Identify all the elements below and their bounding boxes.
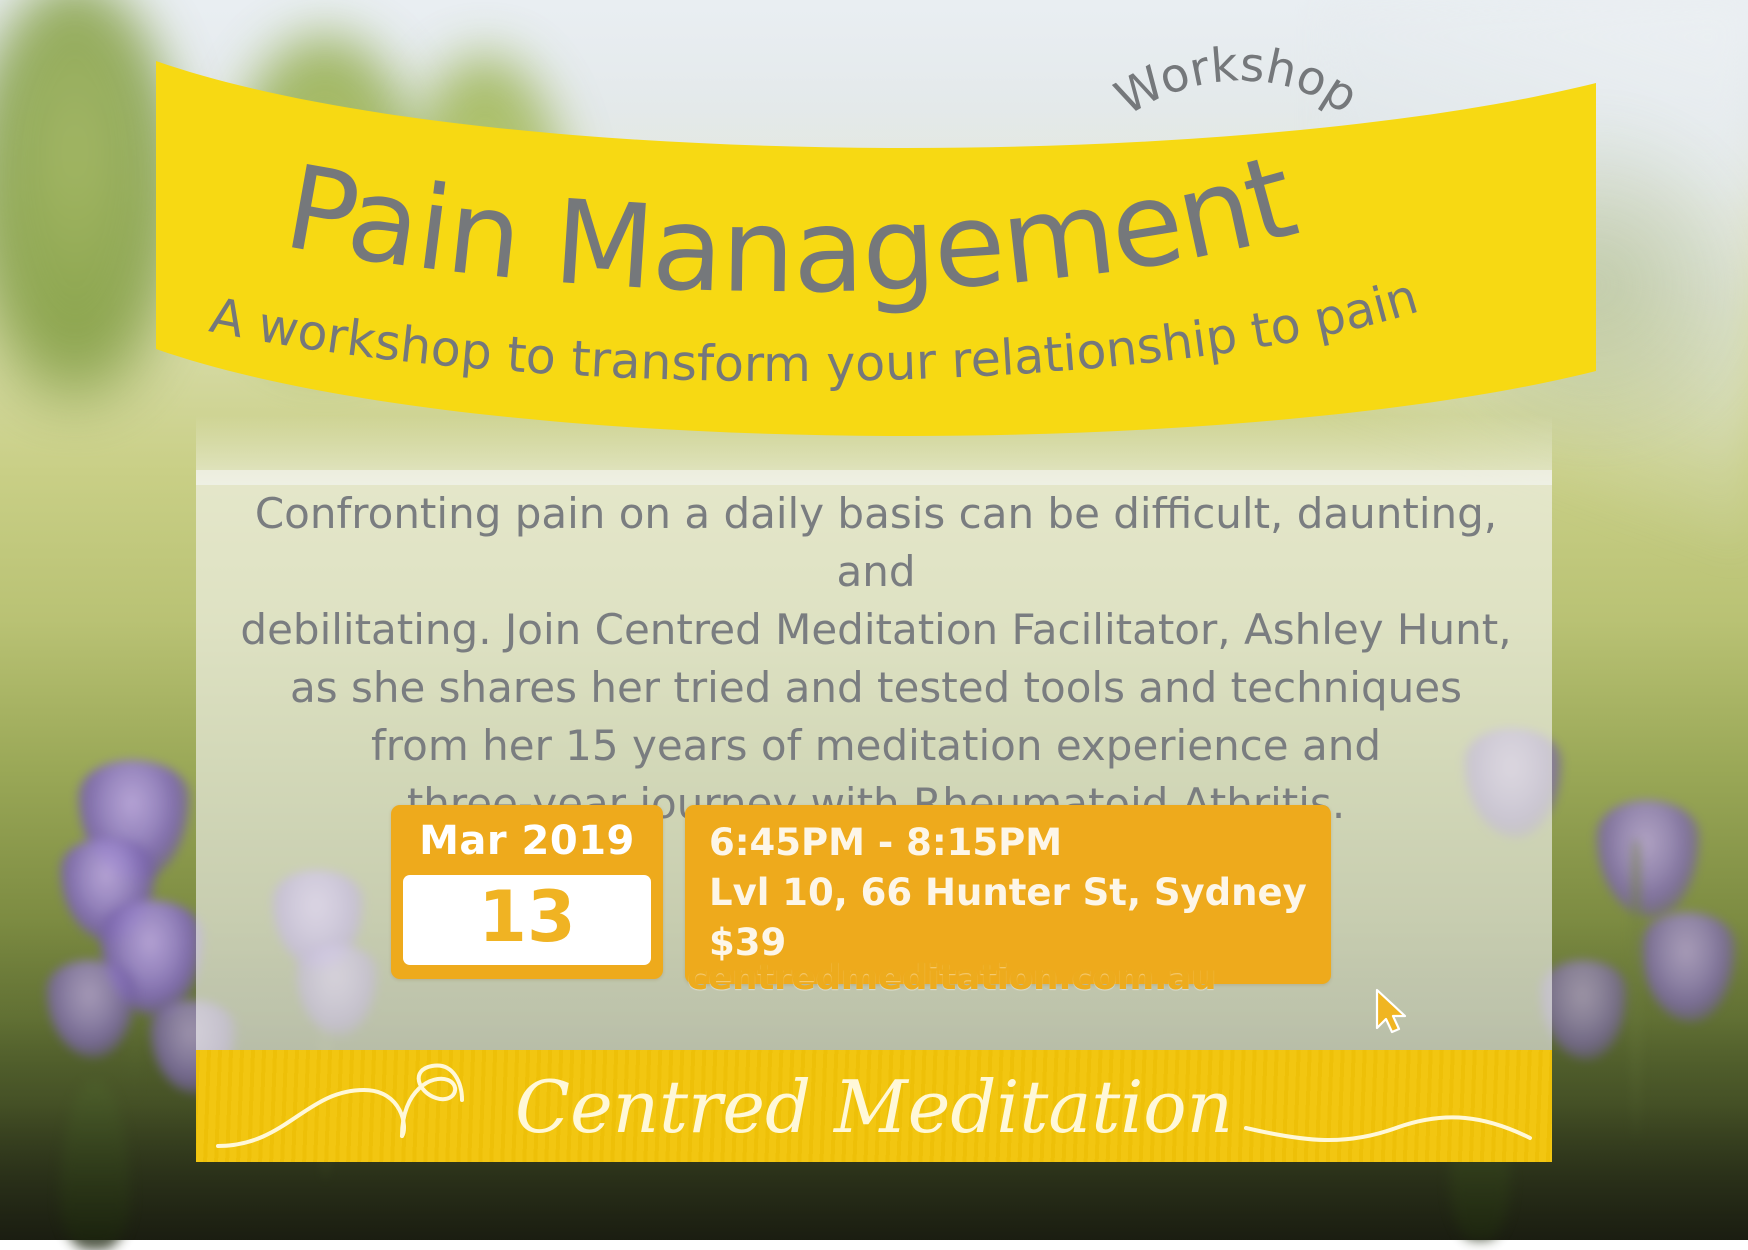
mouse-pointer-icon <box>1374 988 1408 1034</box>
event-location: Lvl 10, 66 Hunter St, Sydney <box>709 868 1307 918</box>
lavender-flower <box>1596 800 1700 918</box>
centred-meditation-logo: Centred Meditation <box>196 1050 1552 1162</box>
footer-bar: Centred Meditation <box>196 1050 1552 1162</box>
description-line: debilitating. Join Centred Meditation Fa… <box>216 601 1536 659</box>
lavender-stem <box>1630 840 1642 1140</box>
website-link[interactable]: centredmeditation.com.au <box>687 957 1216 998</box>
date-badge: Mar 2019 13 <box>391 805 663 979</box>
description-line: from her 15 years of meditation experien… <box>216 717 1536 775</box>
header-banner <box>156 55 1596 455</box>
flyer-card: Pain Management A workshop to transform … <box>196 0 1552 1185</box>
lavender-flower <box>1540 960 1628 1060</box>
date-day: 13 <box>403 879 651 955</box>
logo-wordmark: Centred Meditation <box>515 1065 1233 1149</box>
date-day-plate: 13 <box>403 875 651 965</box>
grass-blade <box>60 1080 130 1250</box>
description-line: as she shares her tried and tested tools… <box>216 659 1536 717</box>
lavender-flower <box>1640 912 1736 1022</box>
poster-description: Confronting pain on a daily basis can be… <box>216 485 1536 833</box>
event-details: Mar 2019 13 6:45PM - 8:15PM Lvl 10, 66 H… <box>391 805 1391 984</box>
event-time: 6:45PM - 8:15PM <box>709 818 1307 868</box>
lavender-flower <box>46 960 136 1058</box>
description-line: Confronting pain on a daily basis can be… <box>216 485 1536 601</box>
date-month-year: Mar 2019 <box>403 818 651 864</box>
